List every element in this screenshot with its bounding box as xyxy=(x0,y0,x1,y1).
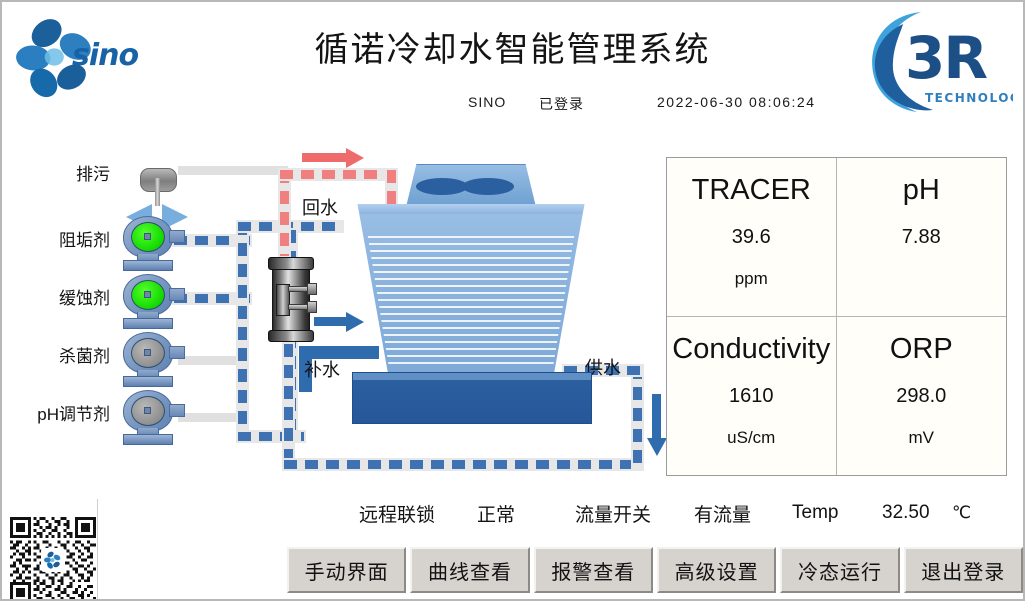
pump-outlet-nozzle xyxy=(169,288,185,301)
system-datetime: 2022-06-30 08:06:24 xyxy=(657,94,816,110)
pump-hub xyxy=(144,233,151,240)
login-status: 已登录 xyxy=(539,94,584,114)
pump-outlet-nozzle xyxy=(169,230,185,243)
water-analyzer xyxy=(264,254,320,346)
reading-name: pH xyxy=(903,172,940,208)
three-r-logo: 3R TECHNOLOGY xyxy=(863,6,1013,118)
temp-label: Temp xyxy=(792,502,838,524)
dosing-label-3: 杀菌剂 xyxy=(2,342,110,367)
analyzer-flange-lower xyxy=(307,301,317,313)
tower-fan-blade-left xyxy=(416,178,468,195)
process-diagram: 回水 补水 供水 排污 xyxy=(2,124,662,484)
three-r-logo-icon: 3R TECHNOLOGY xyxy=(863,6,1013,118)
analyzer-top-cap xyxy=(268,257,314,270)
flow-loop-bottom xyxy=(284,460,642,469)
current-user: SINO xyxy=(468,94,506,110)
dosing-label-2: 缓蚀剂 xyxy=(2,284,110,309)
reading-value: 1610 xyxy=(729,385,774,408)
flow-switch-label: 流量开关 xyxy=(575,500,651,527)
analyzer-flange-upper xyxy=(307,283,317,295)
pump-hub xyxy=(144,291,151,298)
reading-name: ORP xyxy=(890,331,953,367)
remote-interlock-label: 远程联锁 xyxy=(359,500,435,527)
flow-loop-right xyxy=(633,366,642,468)
dosing-line-blowdown[interactable]: 排污 xyxy=(2,150,182,196)
three-r-sub: TECHNOLOGY xyxy=(925,91,1013,105)
svg-text:3R: 3R xyxy=(905,24,987,92)
reading-value: 298.0 xyxy=(896,385,946,408)
logout-button[interactable]: 退出登录 xyxy=(904,547,1023,593)
tower-top-cap xyxy=(342,204,600,214)
advanced-settings-button[interactable]: 高级设置 xyxy=(657,547,776,593)
pump-base xyxy=(123,318,173,329)
reading-name: Conductivity xyxy=(672,331,830,367)
cold-start-run-button[interactable]: 冷态运行 xyxy=(780,547,899,593)
pump-outlet-nozzle xyxy=(169,346,185,359)
measurements-panel: TRACER 39.6 ppm pH 7.88 Conductivity 161… xyxy=(666,157,1007,476)
reading-card-orp[interactable]: ORP 298.0 mV xyxy=(837,317,1007,476)
qr-code[interactable] xyxy=(10,517,96,601)
flow-riser xyxy=(238,222,247,440)
pump-outlet-nozzle xyxy=(169,404,185,417)
pump-base xyxy=(123,260,173,271)
pump-hub xyxy=(144,407,151,414)
dosing-line-scale-inhibitor[interactable]: 阻垢剂 xyxy=(2,216,182,262)
tower-basin xyxy=(352,372,592,424)
analyzer-bottom-cap xyxy=(268,330,314,342)
hmi-screen: sino 循诺冷却水智能管理系统 SINO 已登录 2022-06-30 08:… xyxy=(0,0,1025,601)
dosing-line-ph-adjuster[interactable]: pH调节剂 xyxy=(2,390,182,436)
alarm-view-button[interactable]: 报警查看 xyxy=(534,547,653,593)
pump-ph-adjuster[interactable] xyxy=(117,390,179,446)
remote-interlock-value: 正常 xyxy=(477,500,515,527)
pump-base xyxy=(123,434,173,445)
manual-interface-button[interactable]: 手动界面 xyxy=(287,547,406,593)
navigation-button-bar: 手动界面 曲线查看 报警查看 高级设置 冷态运行 退出登录 xyxy=(287,547,1023,593)
reading-card-ph[interactable]: pH 7.88 xyxy=(837,158,1007,317)
reading-unit: uS/cm xyxy=(727,428,775,448)
dosing-label-0: 排污 xyxy=(2,160,110,185)
pump-hub xyxy=(144,349,151,356)
dosing-line-biocide[interactable]: 杀菌剂 xyxy=(2,332,182,378)
cooling-tower xyxy=(332,164,622,444)
qr-center-logo xyxy=(41,548,65,572)
temp-unit: ℃ xyxy=(952,503,971,523)
pump-scale-inhibitor[interactable] xyxy=(117,216,179,272)
pump-biocide[interactable] xyxy=(117,332,179,388)
flow-switch-value: 有流量 xyxy=(694,500,751,527)
temp-value: 32.50 xyxy=(882,502,930,524)
tower-fan-blade-right xyxy=(462,178,514,195)
reading-card-tracer[interactable]: TRACER 39.6 ppm xyxy=(667,158,837,317)
header-bar: sino 循诺冷却水智能管理系统 SINO 已登录 2022-06-30 08:… xyxy=(2,2,1023,124)
reading-value: 7.88 xyxy=(902,226,941,249)
reading-name: TRACER xyxy=(692,172,811,208)
status-row: 远程联锁 正常 流量开关 有流量 Temp 32.50 ℃ xyxy=(2,494,1025,532)
reading-card-conductivity[interactable]: Conductivity 1610 uS/cm xyxy=(667,317,837,476)
reading-value: 39.6 xyxy=(732,226,771,249)
reading-unit: ppm xyxy=(735,269,768,289)
left-panel-divider xyxy=(97,499,98,601)
tower-fill-slats xyxy=(342,236,600,364)
flow-return-left xyxy=(280,170,289,256)
reading-unit: mV xyxy=(909,428,935,448)
pump-base xyxy=(123,376,173,387)
dosing-line-corrosion-inhibitor[interactable]: 缓蚀剂 xyxy=(2,274,182,320)
pump-corrosion-inhibitor[interactable] xyxy=(117,274,179,330)
dosing-label-1: 阻垢剂 xyxy=(2,226,110,251)
sino-flower-small-icon xyxy=(43,550,63,570)
valve-stem xyxy=(155,178,160,206)
dosing-label-4: pH调节剂 xyxy=(2,400,110,425)
trend-view-button[interactable]: 曲线查看 xyxy=(410,547,529,593)
